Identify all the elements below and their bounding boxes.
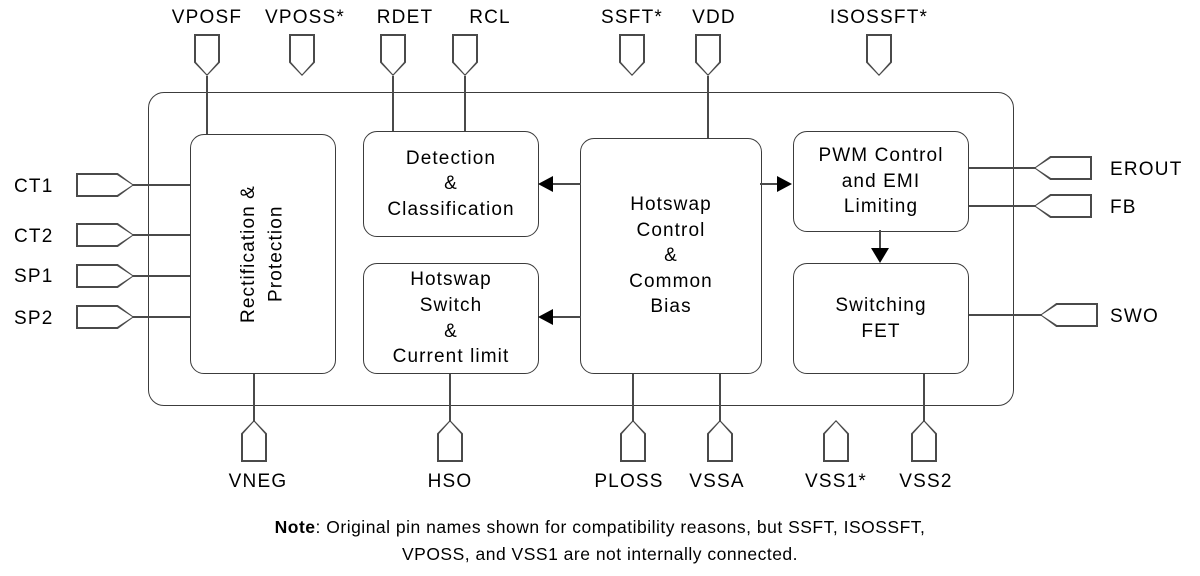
note-line-1: Original pin names shown for compatibili… bbox=[326, 517, 925, 537]
block-switching-fet-label: Switching FET bbox=[829, 293, 932, 344]
wire-rcl-lead bbox=[464, 76, 466, 133]
wire-vposf-lead bbox=[206, 76, 208, 136]
pin-label-sp1: SP1 bbox=[14, 267, 54, 286]
pin-label-vss1: VSS1* bbox=[805, 472, 867, 491]
pin-label-swo: SWO bbox=[1110, 307, 1159, 326]
wire-control-to-pwm bbox=[760, 183, 778, 185]
pin-label-erout: EROUT bbox=[1110, 160, 1183, 179]
arrow-control-to-hotswap-switch-icon bbox=[538, 309, 553, 325]
pin-label-vposf: VPOSF bbox=[172, 8, 242, 27]
pin-swo[interactable] bbox=[1040, 303, 1098, 327]
pin-label-vneg: VNEG bbox=[229, 472, 288, 491]
block-hotswap-switch-label: Hotswap Switch & Current limit bbox=[387, 267, 516, 370]
pin-isossft[interactable] bbox=[866, 34, 892, 76]
pin-label-ct2: CT2 bbox=[14, 227, 54, 246]
pin-ct2[interactable] bbox=[76, 223, 134, 247]
pin-vss2[interactable] bbox=[911, 420, 937, 462]
pin-label-rdet: RDET bbox=[377, 8, 434, 27]
pin-erout[interactable] bbox=[1034, 156, 1092, 180]
arrow-control-to-detection-icon bbox=[538, 176, 553, 192]
pin-vneg[interactable] bbox=[241, 420, 267, 462]
pin-vss1[interactable] bbox=[823, 420, 849, 462]
pin-vposf[interactable] bbox=[194, 34, 220, 76]
wire-vneg-lead bbox=[253, 372, 255, 422]
pin-label-ct1: CT1 bbox=[14, 177, 54, 196]
block-diagram-canvas: VPOSF VPOSS* RDET RCL SSFT* VDD ISOSSFT*… bbox=[0, 0, 1200, 576]
pin-sp2[interactable] bbox=[76, 305, 134, 329]
pin-label-ploss: PLOSS bbox=[594, 472, 663, 491]
wire-ploss-lead bbox=[632, 372, 634, 422]
wire-pwm-to-fet bbox=[879, 230, 881, 250]
pin-ssft[interactable] bbox=[619, 34, 645, 76]
block-detection-classification[interactable]: Detection & Classification bbox=[363, 131, 539, 237]
pin-vssa[interactable] bbox=[707, 420, 733, 462]
pin-label-ssft: SSFT* bbox=[601, 8, 663, 27]
wire-vss2-lead bbox=[923, 372, 925, 422]
wire-ct1-lead bbox=[133, 184, 191, 186]
pin-ct1[interactable] bbox=[76, 173, 134, 197]
wire-rdet-lead bbox=[392, 76, 394, 133]
pin-fb[interactable] bbox=[1034, 194, 1092, 218]
pin-label-fb: FB bbox=[1110, 198, 1137, 217]
diagram-note: Note: Original pin names shown for compa… bbox=[0, 514, 1200, 568]
wire-vssa-lead bbox=[719, 372, 721, 422]
pin-label-vssa: VSSA bbox=[689, 472, 745, 491]
pin-rcl[interactable] bbox=[452, 34, 478, 76]
block-hotswap-control-label: Hotswap Control & Common Bias bbox=[623, 192, 719, 320]
block-detection-label: Detection & Classification bbox=[381, 146, 520, 223]
note-prefix: Note bbox=[275, 517, 316, 537]
pin-vdd[interactable] bbox=[695, 34, 721, 76]
pin-label-hso: HSO bbox=[428, 472, 473, 491]
wire-control-to-detection bbox=[553, 183, 581, 185]
pin-label-vdd: VDD bbox=[692, 8, 736, 27]
arrow-control-to-pwm-icon bbox=[777, 176, 792, 192]
wire-control-to-hotswap-switch bbox=[553, 316, 581, 318]
note-line-2: VPOSS, and VSS1 are not internally conne… bbox=[402, 544, 798, 564]
arrow-pwm-to-fet-icon bbox=[871, 248, 889, 263]
block-pwm-control-label: PWM Control and EMI Limiting bbox=[812, 143, 949, 220]
wire-sp1-lead bbox=[133, 275, 191, 277]
pin-label-rcl: RCL bbox=[469, 8, 511, 27]
pin-label-isossft: ISOSSFT* bbox=[830, 8, 928, 27]
block-switching-fet[interactable]: Switching FET bbox=[793, 263, 969, 374]
wire-erout-lead bbox=[966, 167, 1036, 169]
pin-label-sp2: SP2 bbox=[14, 309, 54, 328]
pin-vposs[interactable] bbox=[289, 34, 315, 76]
pin-hso[interactable] bbox=[437, 420, 463, 462]
block-pwm-control-emi-limiting[interactable]: PWM Control and EMI Limiting bbox=[793, 131, 969, 232]
wire-ct2-lead bbox=[133, 234, 191, 236]
wire-vdd-lead bbox=[707, 76, 709, 140]
block-rectification-label: Rectification & Protection bbox=[229, 135, 296, 373]
pin-label-vss2: VSS2 bbox=[899, 472, 952, 491]
pin-ploss[interactable] bbox=[620, 420, 646, 462]
note-separator: : bbox=[316, 517, 327, 537]
block-hotswap-switch-current-limit[interactable]: Hotswap Switch & Current limit bbox=[363, 263, 539, 374]
wire-sp2-lead bbox=[133, 316, 191, 318]
pin-sp1[interactable] bbox=[76, 264, 134, 288]
pin-label-vposs: VPOSS* bbox=[265, 8, 345, 27]
pin-rdet[interactable] bbox=[380, 34, 406, 76]
block-hotswap-control-common-bias[interactable]: Hotswap Control & Common Bias bbox=[580, 138, 762, 374]
block-rectification-protection[interactable]: Rectification & Protection bbox=[190, 134, 336, 374]
wire-hso-lead bbox=[449, 372, 451, 422]
wire-swo-lead bbox=[966, 314, 1042, 316]
wire-fb-lead bbox=[966, 205, 1036, 207]
